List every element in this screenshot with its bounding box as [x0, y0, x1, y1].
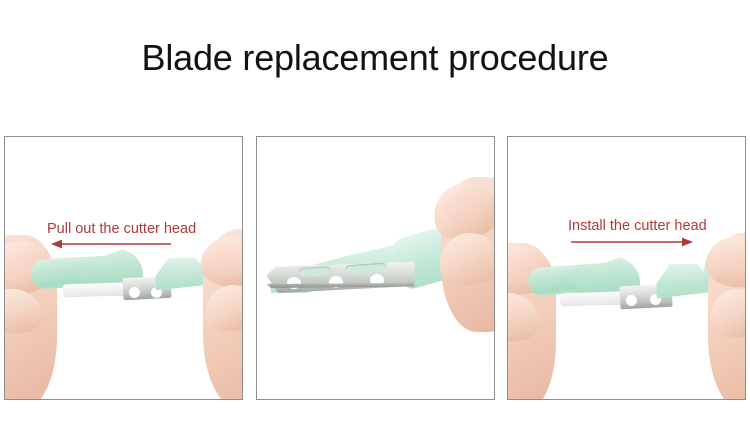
illustration-pull-out: Pull out the cutter head — [5, 137, 242, 399]
panel-pull-out: Pull out the cutter head — [4, 136, 243, 400]
blade-notch-1 — [626, 295, 637, 306]
caption-install: Install the cutter head — [568, 217, 707, 235]
illustration-cutter-head — [257, 137, 494, 399]
caption-pull-out: Pull out the cutter head — [47, 220, 196, 238]
blade-notch-1 — [129, 287, 140, 298]
illustration-install: Install the cutter head — [508, 137, 745, 399]
panel-blade — [256, 136, 495, 400]
arrow-right-icon — [571, 236, 693, 248]
arrow-left-icon — [51, 238, 173, 250]
panel-install: Install the cutter head — [507, 136, 746, 400]
page-title: Blade replacement procedure — [0, 36, 750, 80]
panel-row: Pull out the cutter head — [4, 136, 746, 401]
